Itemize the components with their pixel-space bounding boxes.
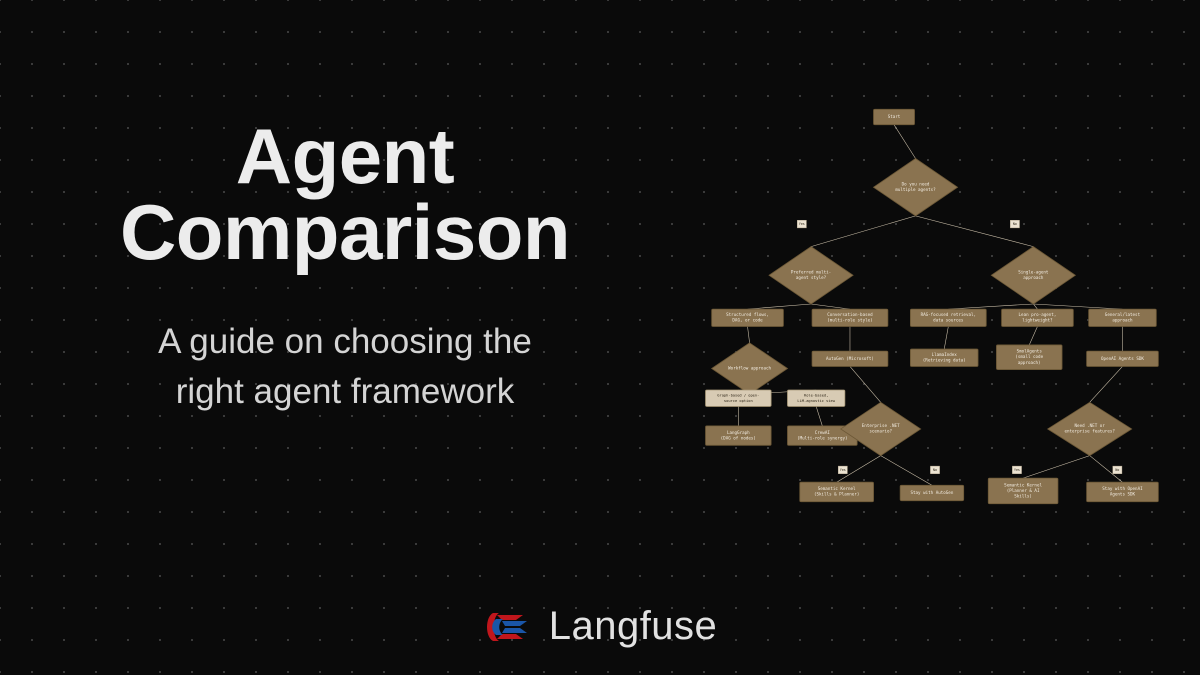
flowchart-canvas: StartDo you needmultiple agents?Preferre… — [670, 95, 1200, 515]
hero-text-block: Agent Comparison A guide on choosing the… — [0, 118, 690, 416]
flowchart-node-lbl-dag[interactable]: Graph-based / open-source option — [706, 390, 772, 406]
page-title: Agent Comparison — [0, 118, 690, 271]
node-label-line: (Retrieving data) — [923, 358, 966, 363]
node-label-line: enterprise features? — [1064, 429, 1115, 434]
edge-label-text: Yes — [840, 468, 846, 472]
flowchart-node-layer: StartDo you needmultiple agents?Preferre… — [706, 109, 1159, 503]
flowchart-edge — [881, 456, 932, 486]
flowchart-node-ent-dotnet[interactable]: Enterprise .NETscenario? — [841, 402, 921, 455]
node-label-line: (Planner & AI — [1007, 488, 1040, 493]
flowchart-node-stay-openai[interactable]: Stay with OpenAIAgents SDK — [1087, 482, 1159, 501]
node-label-line: Need .NET or — [1075, 423, 1106, 428]
node-label-line: approach — [1112, 318, 1133, 323]
node-label-line: lightweight? — [1022, 318, 1053, 323]
node-label-line: Structured flows, — [726, 312, 769, 317]
flowchart-node-need-multi[interactable]: Do you needmultiple agents? — [874, 159, 958, 216]
edge-label-text: No — [1013, 222, 1017, 226]
node-label-line: Skills) — [1014, 493, 1032, 498]
edge-label-text: No — [1115, 468, 1119, 472]
node-label-line: (small code — [1015, 354, 1043, 359]
flowchart-edge — [816, 406, 822, 425]
node-label-line: data sources — [933, 318, 964, 323]
flowchart-node-sk-skills[interactable]: Semantic Kernel(Skills & Planner) — [800, 482, 874, 501]
node-label-line: approach) — [1018, 360, 1041, 365]
node-label-line: DAG, or code — [732, 318, 763, 323]
flowchart-node-lbl-role[interactable]: Role-based,LLM-agnostic view — [787, 390, 844, 406]
flowchart-edge — [944, 327, 948, 350]
flowchart-edge — [1033, 304, 1037, 309]
flowchart-node-langgraph[interactable]: LangGraph(DAG of nodes) — [706, 426, 772, 445]
page-subtitle-line-2: right agent framework — [0, 367, 690, 417]
node-label-line: SmolAgents — [1017, 349, 1043, 354]
flowchart-edge — [894, 125, 916, 159]
flowchart-edge — [748, 304, 812, 309]
edge-label-edge-no-need: No — [1113, 466, 1122, 474]
flowchart-edge — [1023, 456, 1090, 479]
node-label-line: Start — [888, 114, 901, 119]
node-label-line: Stay with OpenAI — [1102, 486, 1143, 491]
flowchart-node-workflow[interactable]: Workflow approach — [712, 343, 788, 394]
flowchart-edge — [811, 216, 915, 247]
flowchart-edge — [811, 304, 850, 309]
page-subtitle-line-1: A guide on choosing the — [0, 317, 690, 367]
flowchart-node-sk-planner[interactable]: Semantic Kernel(Planner & AISkills) — [988, 478, 1058, 504]
flowchart-node-need-dotnet[interactable]: Need .NET orenterprise features? — [1048, 402, 1132, 455]
node-label-line: Do you need — [902, 181, 930, 186]
node-label-line: scenario? — [869, 429, 892, 434]
node-label-line: OpenAI Agents SDK — [1101, 356, 1144, 361]
node-label-line: Agents SDK — [1110, 492, 1136, 497]
node-label-line: (Skills & Planner) — [814, 492, 859, 497]
node-label-line: (DAG of nodes) — [721, 435, 756, 440]
flowchart-node-rag-focus[interactable]: RAG-focused retrieval,data sources — [910, 309, 986, 326]
node-label-line: (Multi-role synergy) — [797, 435, 847, 440]
flowchart-node-multi-style[interactable]: Preferred multi-agent style? — [769, 247, 853, 304]
flowchart-edge — [1090, 366, 1123, 402]
brand-logo-text: Langfuse — [549, 604, 718, 649]
node-label-line: LangGraph — [727, 430, 750, 435]
flowchart-node-structured[interactable]: Structured flows,DAG, or code — [712, 309, 784, 326]
node-label-line: multiple agents? — [895, 187, 936, 192]
node-label-line: Lean pro-agent, — [1019, 312, 1057, 317]
node-label-line: Graph-based / open- — [717, 394, 759, 398]
node-label-line: CrewAI — [815, 430, 831, 435]
page-subtitle: A guide on choosing the right agent fram… — [0, 317, 690, 416]
node-label-line: AutoGen (Microsoft) — [826, 356, 874, 361]
node-label-line: Role-based, — [804, 394, 828, 398]
node-label-line: Preferred multi- — [791, 270, 831, 275]
flowchart-edge — [850, 366, 881, 402]
page-title-line-2: Comparison — [0, 194, 690, 270]
node-label-line: Enterprise .NET — [862, 423, 900, 428]
node-label-line: Semantic Kernel — [1004, 482, 1042, 487]
node-label-line: LLM-agnostic view — [797, 399, 835, 403]
flowchart-node-openai-sdk[interactable]: OpenAI Agents SDK — [1087, 351, 1159, 366]
node-label-line: Semantic Kernel — [818, 486, 856, 491]
agent-framework-decision-flowchart: StartDo you needmultiple agents?Preferre… — [670, 95, 1200, 515]
node-label-line: (multi-role style) — [827, 318, 872, 323]
node-label-line: Workflow approach — [728, 366, 771, 371]
flowchart-edge — [1029, 327, 1037, 345]
edge-label-edge-yes-multi: Yes — [797, 220, 806, 228]
flowchart-node-start[interactable]: Start — [874, 109, 915, 124]
node-label-line: agent style? — [796, 275, 827, 280]
flowchart-node-autogen[interactable]: AutoGen (Microsoft) — [812, 351, 888, 366]
node-label-line: General/latest — [1105, 312, 1141, 317]
flowchart-node-lean-pro[interactable]: Lean pro-agent,lightweight? — [1002, 309, 1074, 326]
flowchart-node-llamaindex[interactable]: LlamaIndex(Retrieving data) — [910, 349, 978, 366]
node-label-line: RAG-focused retrieval, — [921, 312, 976, 317]
langfuse-logo-icon — [483, 607, 531, 647]
brand-logo-row: Langfuse — [0, 604, 1200, 649]
edge-label-text: No — [933, 468, 937, 472]
edge-label-text: Yes — [799, 222, 805, 226]
flowchart-node-single-agent[interactable]: Single-agentapproach — [991, 247, 1075, 304]
edge-label-text: Yes — [1014, 468, 1020, 472]
flowchart-edge — [948, 304, 1033, 309]
node-label-line: Stay with AutoGen — [910, 490, 953, 495]
edge-label-edge-no-multi: No — [1010, 220, 1019, 228]
node-label-line: Single-agent — [1018, 270, 1049, 275]
flowchart-node-conversation[interactable]: Conversation-based(multi-role style) — [812, 309, 888, 326]
edge-label-edge-yes-ent: Yes — [838, 466, 847, 474]
node-label-line: LlamaIndex — [932, 352, 958, 357]
slide-stage: Agent Comparison A guide on choosing the… — [0, 0, 1200, 675]
flowchart-node-smolagents[interactable]: SmolAgents(small codeapproach) — [996, 345, 1062, 370]
flowchart-node-stay-autogen[interactable]: Stay with AutoGen — [900, 485, 964, 500]
flowchart-node-general[interactable]: General/latestapproach — [1089, 309, 1157, 326]
node-label-line: Conversation-based — [827, 312, 873, 317]
page-title-line-1: Agent — [0, 118, 690, 194]
node-label-line: approach — [1023, 275, 1044, 280]
flowchart-edge — [748, 327, 750, 343]
node-label-line: source option — [724, 399, 753, 403]
edge-label-edge-no-ent: No — [930, 466, 939, 474]
edge-label-edge-yes-need: Yes — [1012, 466, 1021, 474]
flowchart-edge — [1033, 304, 1122, 309]
